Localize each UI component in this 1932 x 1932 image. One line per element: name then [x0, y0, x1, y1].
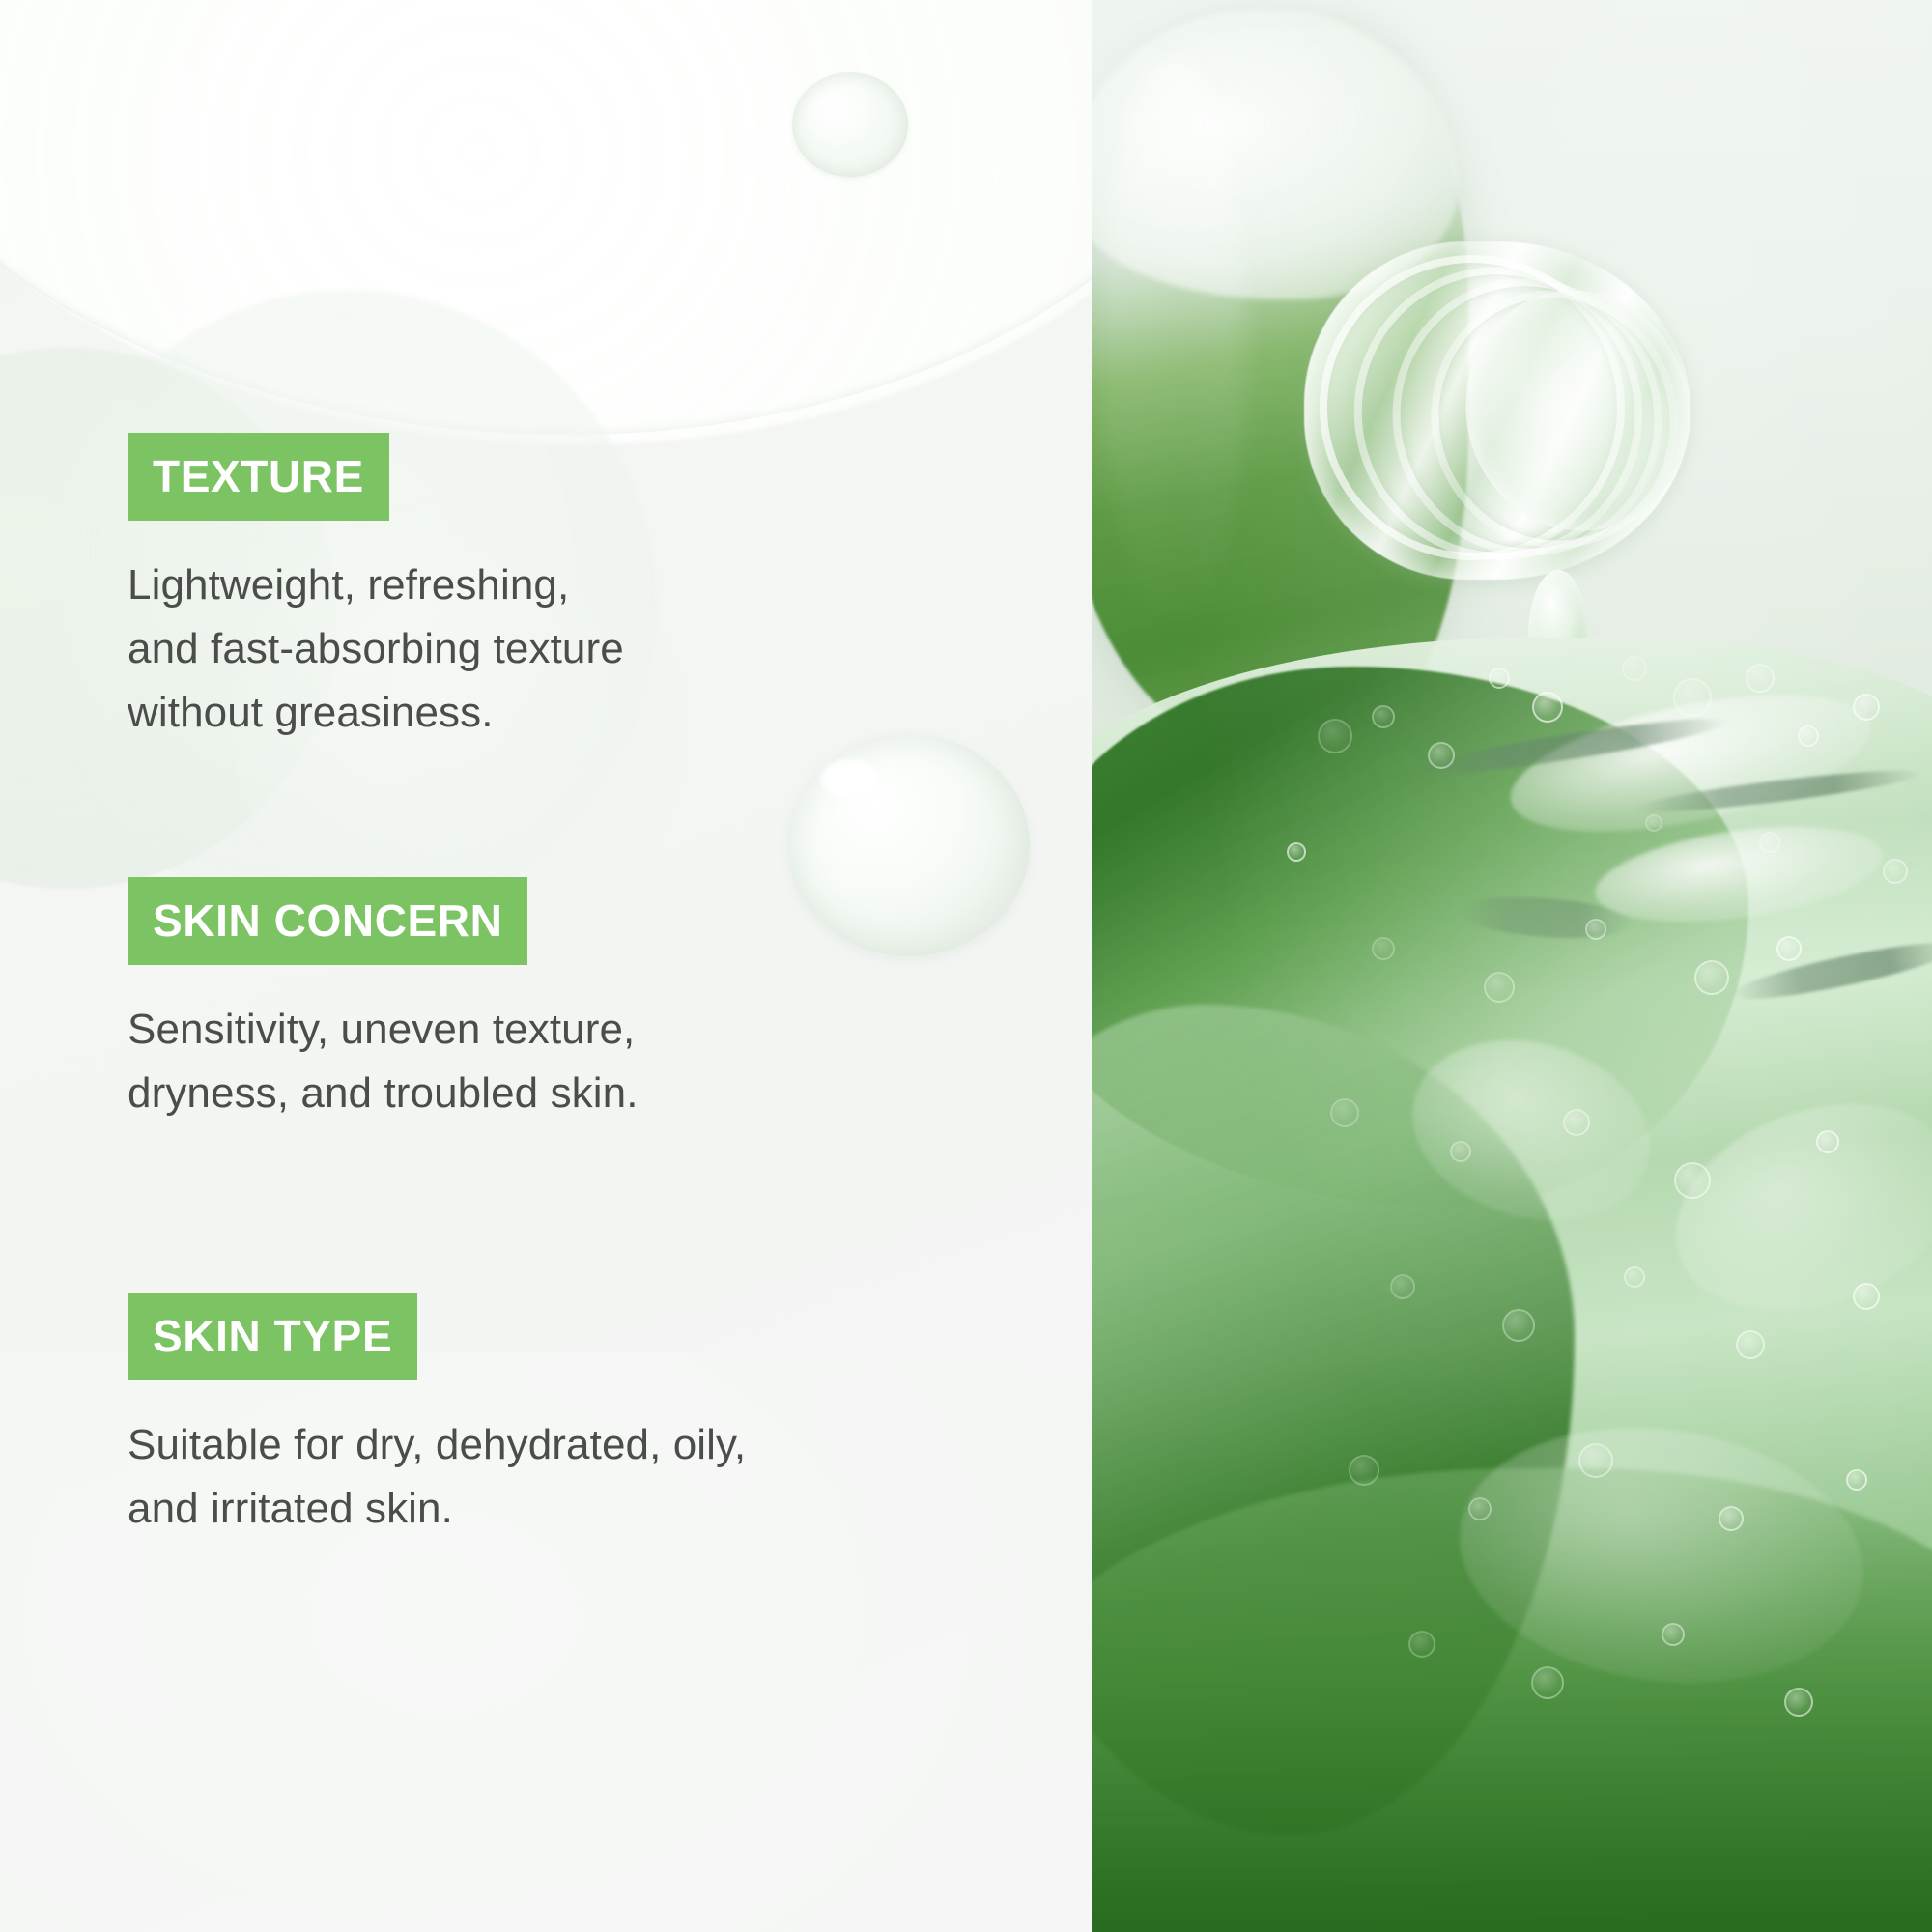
air-bubble-icon: [1622, 656, 1647, 681]
air-bubble-icon: [1349, 1455, 1379, 1486]
air-bubble-icon: [1330, 1098, 1359, 1127]
air-bubble-icon: [1746, 664, 1775, 693]
air-bubble-icon: [1694, 960, 1729, 995]
air-bubble-icon: [1853, 1283, 1880, 1310]
air-bubble-icon: [1776, 936, 1802, 961]
air-bubble-icon: [1563, 1109, 1590, 1136]
air-bubble-icon: [1372, 705, 1395, 728]
air-bubble-icon: [1450, 1141, 1471, 1162]
product-detail-graphic: TEXTURE Lightweight, refreshing, and fas…: [0, 0, 1932, 1932]
air-bubble-icon: [1673, 678, 1712, 717]
air-bubble-icon: [1531, 1666, 1564, 1699]
air-bubble-icon: [1585, 919, 1606, 940]
air-bubble-icon: [1798, 725, 1819, 747]
air-bubble-icon: [1372, 937, 1395, 960]
bottle-highlight: [1101, 58, 1246, 638]
air-bubble-icon: [1484, 972, 1515, 1003]
section-body-skin-type: Suitable for dry, dehydrated, oily, and …: [128, 1413, 746, 1541]
air-bubble-icon: [1719, 1506, 1744, 1531]
air-bubble-icon: [1784, 1688, 1813, 1717]
section-tag-skin-type: SKIN TYPE: [128, 1293, 417, 1380]
section-body-texture: Lightweight, refreshing, and fast-absorb…: [128, 554, 624, 745]
air-bubble-icon: [1846, 1469, 1867, 1491]
section-skin-concern: SKIN CONCERN Sensitivity, uneven texture…: [128, 877, 639, 1125]
air-bubble-icon: [1578, 1443, 1613, 1478]
section-tag-skin-concern: SKIN CONCERN: [128, 877, 527, 965]
air-bubble-icon: [1736, 1330, 1765, 1359]
air-bubble-icon: [1408, 1631, 1435, 1658]
air-bubble-icon: [1759, 832, 1780, 853]
section-body-skin-concern: Sensitivity, uneven texture, dryness, an…: [128, 998, 639, 1125]
air-bubble-icon: [1883, 859, 1908, 884]
air-bubble-icon: [1853, 694, 1880, 721]
air-bubble-icon: [1674, 1162, 1711, 1199]
section-texture: TEXTURE Lightweight, refreshing, and fas…: [128, 433, 624, 745]
air-bubble-icon: [1502, 1309, 1535, 1342]
air-bubble-icon: [1468, 1497, 1492, 1520]
section-skin-type: SKIN TYPE Suitable for dry, dehydrated, …: [128, 1293, 746, 1541]
air-bubble-icon: [1662, 1623, 1685, 1646]
air-bubble-icon: [1428, 742, 1455, 769]
air-bubble-icon: [1645, 814, 1662, 832]
air-bubble-icon: [1532, 692, 1563, 723]
air-bubble-icon: [1816, 1130, 1839, 1153]
section-tag-texture: TEXTURE: [128, 433, 389, 521]
air-bubble-icon: [1390, 1274, 1415, 1299]
air-bubble-icon: [1287, 842, 1306, 862]
info-sections: TEXTURE Lightweight, refreshing, and fas…: [0, 0, 1092, 1932]
product-photo: [1092, 0, 1932, 1932]
air-bubble-icon: [1624, 1266, 1645, 1288]
air-bubble-icon: [1489, 668, 1510, 689]
air-bubble-icon: [1318, 719, 1352, 753]
